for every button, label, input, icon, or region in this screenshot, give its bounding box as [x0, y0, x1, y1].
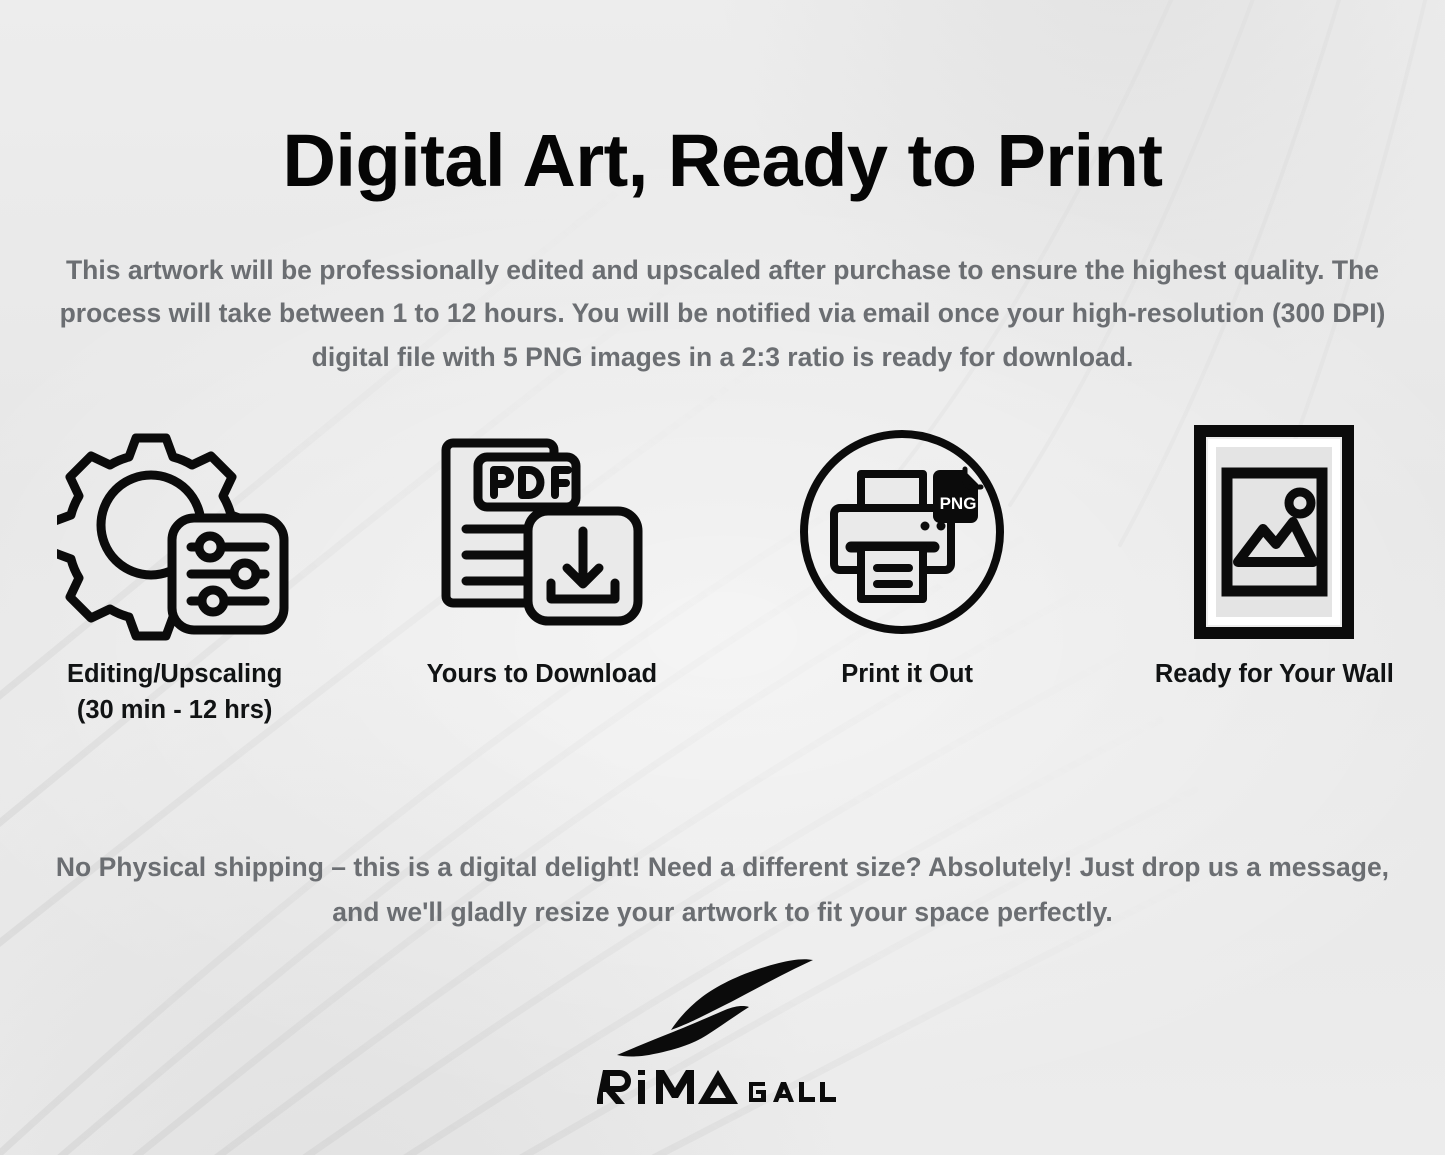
gear-sliders-icon [57, 412, 293, 652]
feature-item-download: Yours to Download [367, 412, 717, 692]
feature-item-wall: Ready for Your Wall [1099, 412, 1445, 692]
swoosh-wing-logo-icon [607, 952, 839, 1060]
png-badge-text: PNG [940, 494, 977, 513]
feature-item-editing-upscaling: Editing/Upscaling (30 min - 12 hrs) [0, 412, 350, 728]
brand-wordmark [597, 1066, 849, 1106]
feature-label: Editing/Upscaling (30 min - 12 hrs) [67, 656, 282, 728]
outro-paragraph: No Physical shipping – this is a digital… [50, 845, 1395, 936]
brand-logo: RIM GALLERY [0, 952, 1445, 1066]
page-title: Digital Art, Ready to Print [0, 122, 1445, 200]
feature-label: Print it Out [841, 656, 973, 692]
feature-row: Editing/Upscaling (30 min - 12 hrs) [0, 412, 1445, 728]
feature-label: Ready for Your Wall [1155, 656, 1394, 692]
promo-graphic: Digital Art, Ready to Print This artwork… [0, 0, 1445, 1155]
framed-picture-icon [1194, 412, 1354, 652]
feature-label: Yours to Download [427, 656, 657, 692]
pdf-download-icon [436, 412, 648, 652]
feature-item-print: PNG Print it Out [732, 412, 1082, 692]
printer-circle-icon: PNG [799, 412, 1015, 652]
intro-paragraph: This artwork will be professionally edit… [50, 249, 1395, 381]
